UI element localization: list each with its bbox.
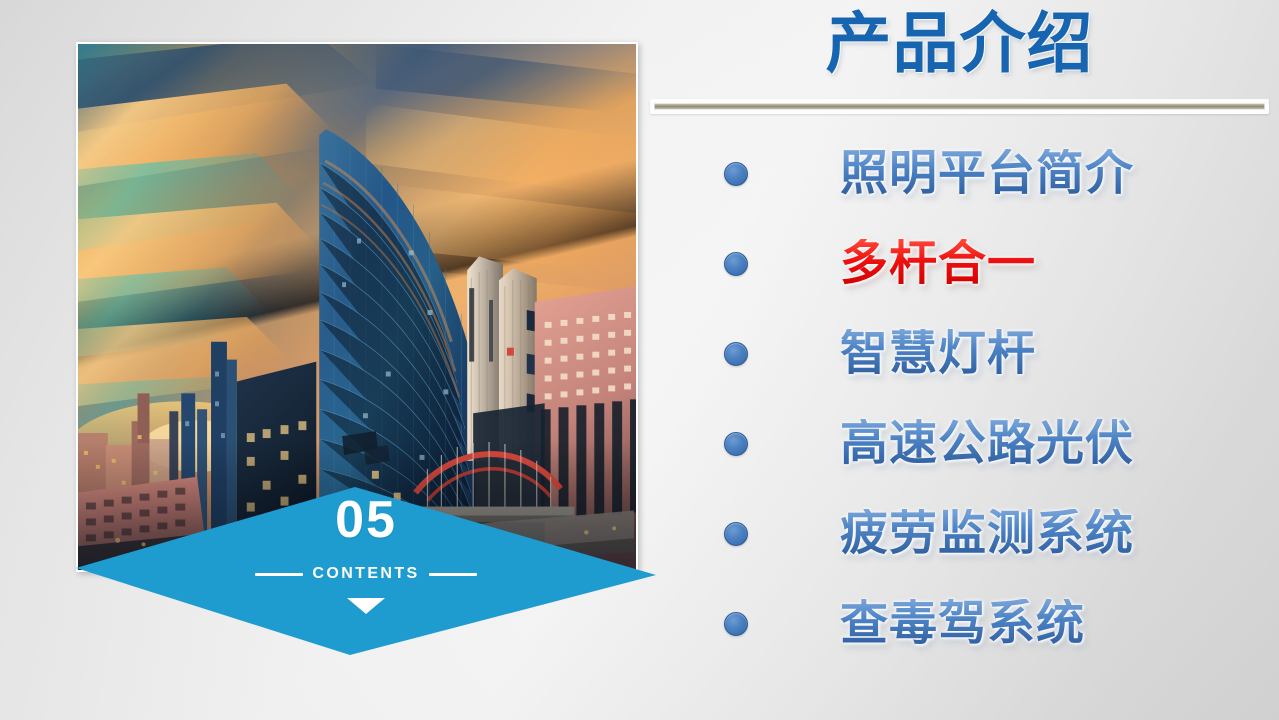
list-item-label: 照明平台简介	[840, 149, 1134, 197]
list-item[interactable]: 照明平台简介	[640, 128, 1279, 218]
divider-bar	[654, 103, 1265, 110]
list-item[interactable]: 高速公路光伏	[640, 398, 1279, 488]
presentation-slide: 05 CONTENTS 产品介绍 照明平台简介 多杆合一	[0, 0, 1279, 720]
content-panel: 产品介绍 照明平台简介 多杆合一 智慧灯杆 高速公路光伏	[640, 0, 1279, 720]
list-item-label: 智慧灯杆	[840, 329, 1036, 377]
list-item-label: 高速公路光伏	[840, 419, 1134, 467]
badge-caret-row	[56, 598, 676, 614]
bullet-dot-icon	[724, 432, 748, 456]
list-item-label: 查毒驾系统	[840, 599, 1085, 647]
list-item[interactable]: 智慧灯杆	[640, 308, 1279, 398]
city-photo-frame	[76, 42, 638, 572]
list-item[interactable]: 查毒驾系统	[640, 578, 1279, 668]
list-item[interactable]: 多杆合一	[640, 218, 1279, 308]
page-title: 产品介绍	[640, 6, 1279, 83]
city-photo-artwork	[78, 44, 636, 570]
bullet-dot-icon	[724, 612, 748, 636]
bullet-dot-icon	[724, 342, 748, 366]
list-item-label: 多杆合一	[840, 239, 1036, 287]
title-divider	[650, 99, 1269, 114]
triangle-down-icon	[347, 598, 385, 614]
topic-list: 照明平台简介 多杆合一 智慧灯杆 高速公路光伏 疲劳监测系统 查毒驾系统	[640, 128, 1279, 668]
city-skyline-photo	[78, 44, 636, 570]
list-item-label: 疲劳监测系统	[840, 509, 1134, 557]
bullet-dot-icon	[724, 162, 748, 186]
badge-rule-left	[255, 573, 303, 576]
bullet-dot-icon	[724, 522, 748, 546]
badge-rule-right	[429, 573, 477, 576]
list-item[interactable]: 疲劳监测系统	[640, 488, 1279, 578]
bullet-dot-icon	[724, 252, 748, 276]
